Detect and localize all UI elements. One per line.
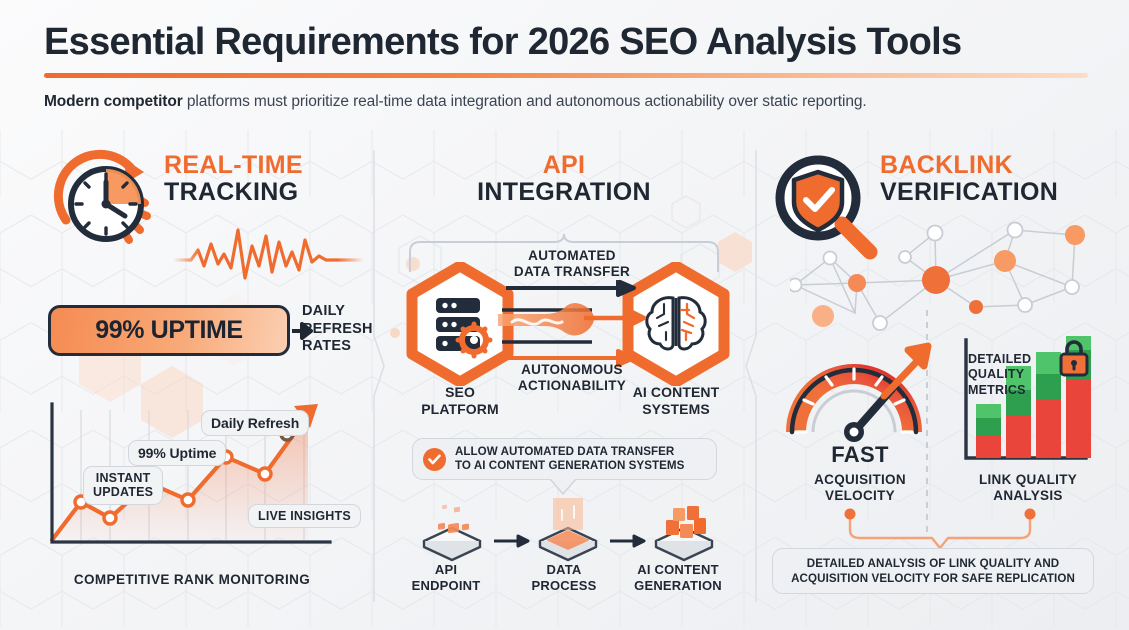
uptime-badge: 99% UPTIME bbox=[48, 305, 290, 356]
lock-icon bbox=[1057, 338, 1091, 378]
cube-stack-icon bbox=[656, 506, 712, 560]
chart-label-live-insights: LIVE INSIGHTS bbox=[248, 504, 361, 528]
pipeline-label-line2: ENDPOINT bbox=[408, 578, 484, 594]
heading-line2: VERIFICATION bbox=[880, 179, 1110, 206]
pipeline-label-ai-content-generation: AI CONTENT GENERATION bbox=[626, 562, 730, 593]
gauge-caption-line1: ACQUISITION bbox=[780, 472, 940, 488]
node-label-ai-content-systems: AI CONTENT SYSTEMS bbox=[616, 384, 736, 417]
subtitle-text: platforms must prioritize real-time data… bbox=[183, 93, 867, 110]
callout-text: ALLOW AUTOMATED DATA TRANSFER TO AI CONT… bbox=[455, 445, 684, 474]
flow-label-line2: DATA TRANSFER bbox=[492, 264, 652, 280]
bar-caption-line2: ANALYSIS bbox=[958, 488, 1098, 504]
pipeline-label-data-process: DATA PROCESS bbox=[524, 562, 604, 593]
pipeline-label-line1: AI CONTENT bbox=[626, 562, 730, 578]
speedometer-icon bbox=[780, 332, 940, 444]
header: Essential Requirements for 2026 SEO Anal… bbox=[44, 22, 1088, 111]
clock-icon bbox=[48, 144, 166, 254]
check-circle-icon bbox=[423, 448, 446, 471]
node-label-line1: SEO bbox=[400, 384, 520, 401]
node-label-seo-platform: SEO PLATFORM bbox=[400, 384, 520, 417]
bottom-note-connector bbox=[840, 508, 1040, 550]
brain-icon bbox=[647, 298, 705, 349]
network-graph-icon bbox=[790, 215, 1110, 333]
page-subtitle: Modern competitor platforms must priorit… bbox=[44, 93, 1088, 111]
automated-transfer-callout: ALLOW AUTOMATED DATA TRANSFER TO AI CONT… bbox=[412, 438, 717, 480]
flow-label-line1: AUTOMATED bbox=[492, 248, 652, 264]
gauge-caption-line2: VELOCITY bbox=[780, 488, 940, 504]
callout-pointer bbox=[548, 479, 578, 495]
chart-label-instant-updates: INSTANTUPDATES bbox=[83, 466, 163, 505]
heading-backlink-verification: BACKLINK VERIFICATION bbox=[880, 152, 1110, 205]
heading-line2: INTEGRATION bbox=[388, 179, 740, 206]
isometric-pipeline bbox=[408, 494, 728, 564]
callout-line1: ALLOW AUTOMATED DATA TRANSFER bbox=[455, 445, 684, 459]
flow-label-line1: AUTONOMOUS bbox=[492, 362, 652, 378]
chart-label-daily-refresh: Daily Refresh bbox=[201, 410, 309, 436]
overlay-line2: QUALITY bbox=[968, 367, 1031, 382]
line-chart-caption: COMPETITIVE RANK MONITORING bbox=[36, 572, 348, 588]
bar-chart-overlay-label: DETAILED QUALITY METRICS bbox=[968, 352, 1031, 398]
flow-label-automated-data-transfer: AUTOMATED DATA TRANSFER bbox=[492, 248, 652, 280]
overlay-line1: DETAILED bbox=[968, 352, 1031, 367]
bottom-note-text: DETAILED ANALYSIS OF LINK QUALITY AND AC… bbox=[791, 556, 1075, 586]
uptime-side-line3: RATES bbox=[302, 338, 373, 356]
heading-line2: TRACKING bbox=[164, 179, 364, 206]
title-underline-rule bbox=[44, 73, 1088, 78]
subtitle-emphasis: Modern competitor bbox=[44, 93, 183, 110]
heading-line1: API bbox=[388, 152, 740, 179]
bottom-note-line2: ACQUISITION VELOCITY FOR SAFE REPLICATIO… bbox=[791, 572, 1075, 585]
uptime-side-line1: DAILY bbox=[302, 303, 373, 321]
bottom-note-line1: DETAILED ANALYSIS OF LINK QUALITY AND bbox=[807, 557, 1060, 570]
uptime-side-line2: REFRESH bbox=[302, 321, 373, 339]
node-label-line2: SYSTEMS bbox=[616, 401, 736, 418]
cube-scatter-icon bbox=[424, 505, 480, 560]
heading-real-time-tracking: REAL-TIME TRACKING bbox=[164, 152, 364, 205]
heading-line1: BACKLINK bbox=[880, 152, 1110, 179]
pipeline-label-api-endpoint: API ENDPOINT bbox=[408, 562, 484, 593]
node-label-line1: AI CONTENT bbox=[616, 384, 736, 401]
infographic-canvas: Essential Requirements for 2026 SEO Anal… bbox=[0, 0, 1129, 630]
callout-line2: TO AI CONTENT GENERATION SYSTEMS bbox=[455, 459, 684, 473]
data-flow-connectors bbox=[498, 280, 648, 372]
bottom-summary-note: DETAILED ANALYSIS OF LINK QUALITY AND AC… bbox=[772, 548, 1094, 594]
bar-caption-line1: LINK QUALITY bbox=[958, 472, 1098, 488]
uptime-side-caption: DAILY REFRESH RATES bbox=[302, 303, 373, 356]
uptime-badge-label: 99% UPTIME bbox=[95, 316, 242, 345]
pipeline-label-line2: GENERATION bbox=[626, 578, 730, 594]
overlay-line3: METRICS bbox=[968, 383, 1031, 398]
heading-line1: REAL-TIME bbox=[164, 152, 364, 179]
gauge-caption: ACQUISITION VELOCITY bbox=[780, 472, 940, 504]
pipeline-label-line2: PROCESS bbox=[524, 578, 604, 594]
bar-chart-caption: LINK QUALITY ANALYSIS bbox=[958, 472, 1098, 504]
heading-api-integration: API INTEGRATION bbox=[388, 152, 740, 205]
pipeline-label-line1: API bbox=[408, 562, 484, 578]
chart-label-uptime: 99% Uptime bbox=[128, 440, 226, 466]
page-title: Essential Requirements for 2026 SEO Anal… bbox=[44, 22, 1088, 64]
gauge-value-label: FAST bbox=[780, 442, 940, 468]
heartbeat-wave-icon bbox=[171, 222, 366, 292]
pipeline-label-line1: DATA bbox=[524, 562, 604, 578]
cube-funnel-icon bbox=[540, 498, 596, 560]
node-label-line2: PLATFORM bbox=[400, 401, 520, 418]
